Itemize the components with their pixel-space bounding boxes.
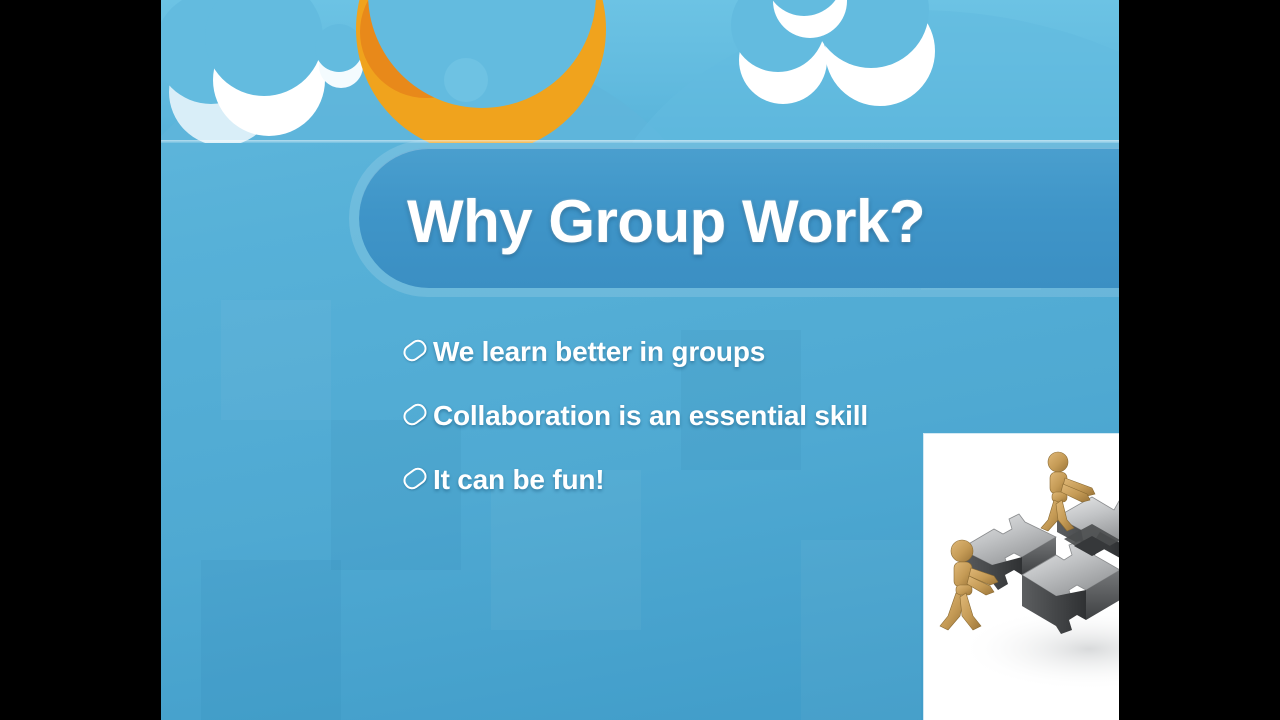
sun-hole-circle — [444, 58, 488, 102]
list-item: It can be fun! — [399, 448, 919, 512]
texture-block — [801, 540, 921, 720]
sky-band — [161, 0, 1120, 143]
orange-sun-crescent — [356, 0, 606, 143]
letterbox-bar-right — [1119, 0, 1280, 720]
tilted-oval-bullet-icon — [399, 341, 433, 363]
tilted-oval-bullet-icon — [399, 405, 433, 427]
bullet-list: We learn better in groups Collaboration … — [399, 320, 919, 512]
list-item-label: We learn better in groups — [433, 336, 765, 368]
list-item: We learn better in groups — [399, 320, 919, 384]
video-player-frame: Why Group Work? We learn better in group… — [0, 0, 1280, 720]
presentation-slide: Why Group Work? We learn better in group… — [161, 0, 1120, 720]
list-item-label: It can be fun! — [433, 464, 604, 496]
list-item-label: Collaboration is an essential skill — [433, 400, 868, 432]
list-item: Collaboration is an essential skill — [399, 384, 919, 448]
texture-block — [201, 560, 341, 720]
texture-block — [221, 300, 331, 420]
puzzle-teamwork-photo — [924, 434, 1120, 720]
tilted-oval-bullet-icon — [399, 469, 433, 491]
page-title: Why Group Work? — [407, 185, 1107, 259]
letterbox-bar-left — [0, 0, 161, 720]
